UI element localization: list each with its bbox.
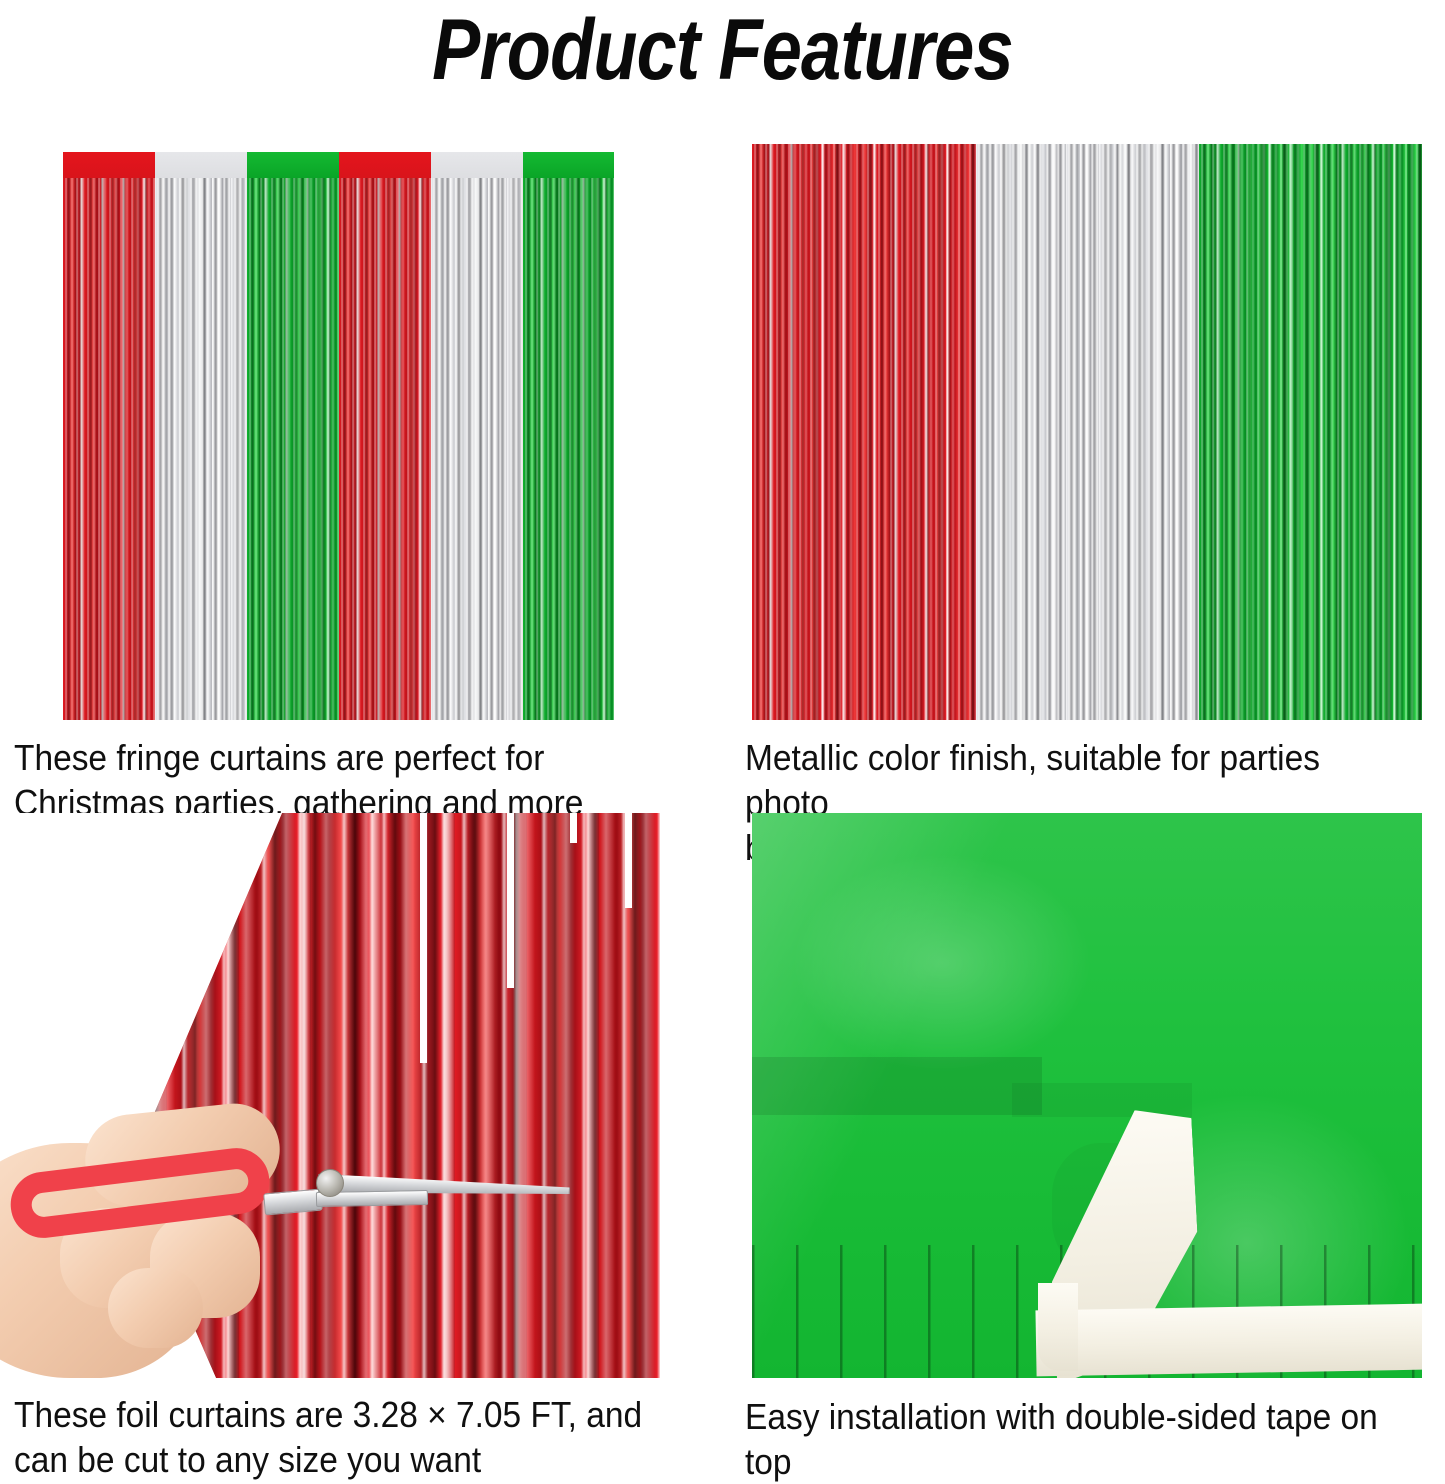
foil-slit — [507, 813, 514, 988]
foil-shadow-band — [1012, 1083, 1192, 1117]
fringe-header-band — [339, 152, 431, 178]
caption-panel-cut: These foil curtains are 3.28 × 7.05 FT, … — [14, 1392, 665, 1482]
fringe-strip-green-closeup — [1199, 144, 1422, 720]
foil-shadow-band — [752, 1057, 1042, 1115]
foil-slit — [625, 813, 632, 908]
fringe-header-band — [155, 152, 247, 178]
fringe-strands — [155, 152, 247, 720]
fringe-header-band — [523, 152, 614, 178]
fringe-strip-silver-2 — [431, 152, 523, 720]
panel-curtains-wide-image — [63, 152, 614, 720]
fringe-header-band — [63, 152, 155, 178]
tape-liner-strip — [1035, 1304, 1422, 1377]
fringe-header-band — [431, 152, 523, 178]
fringe-strands — [63, 152, 155, 720]
panel-tape-image — [752, 813, 1422, 1378]
fringe-strip-silver-1 — [155, 152, 247, 720]
foil-sheen — [792, 853, 1092, 1073]
fringe-strands — [752, 144, 976, 720]
panel-cut-image — [0, 813, 660, 1378]
page-title: Product Features — [116, 2, 1330, 98]
caption-panel-curtains-wide: These fringe curtains are perfect for Ch… — [14, 735, 656, 825]
fringe-strands — [247, 152, 339, 720]
fringe-strip-red-closeup — [752, 144, 976, 720]
hand-little-finger — [108, 1268, 203, 1348]
fringe-strands — [523, 152, 614, 720]
caption-panel-tape: Easy installation with double-sided tape… — [745, 1394, 1396, 1484]
fringe-strands — [431, 152, 523, 720]
scissors-pivot-screw — [316, 1169, 344, 1197]
tape-liner-fold — [1038, 1283, 1078, 1371]
fringe-strands — [339, 152, 431, 720]
fringe-strip-green-1 — [247, 152, 339, 720]
fringe-strip-green-2 — [523, 152, 614, 720]
foil-slit — [570, 813, 577, 843]
fringe-strip-red-2 — [339, 152, 431, 720]
fringe-header-band — [247, 152, 339, 178]
foil-slit — [420, 813, 427, 1063]
fringe-strands — [1199, 144, 1422, 720]
panel-curtains-closeup-image — [752, 144, 1422, 720]
fringe-strip-silver-closeup — [976, 144, 1199, 720]
fringe-strands — [976, 144, 1199, 720]
fringe-strip-red-1 — [63, 152, 155, 720]
